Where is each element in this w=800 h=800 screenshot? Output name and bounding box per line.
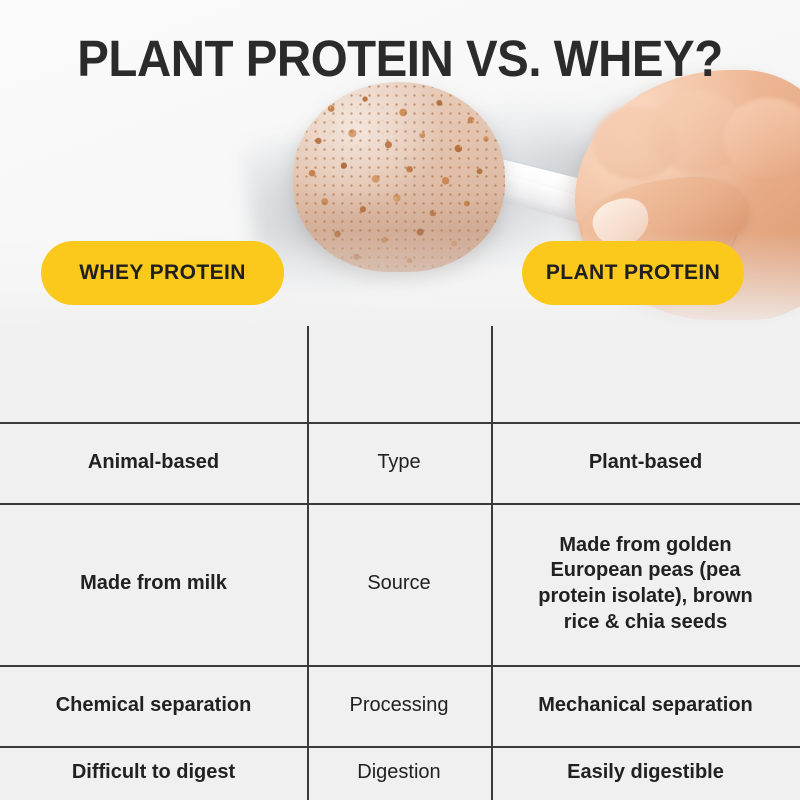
cell-plant: Easily digestible <box>491 746 800 800</box>
page-title: PLANT PROTEIN VS. WHEY? <box>28 31 772 86</box>
badge-plant-protein: PLANT PROTEIN <box>522 241 744 305</box>
cell-plant: Made from golden European peas (pea prot… <box>491 503 800 665</box>
cell-plant-line: European peas (pea <box>538 558 752 584</box>
cell-attribute: Source <box>307 503 491 665</box>
cell-attribute: Digestion <box>307 746 491 800</box>
cell-whey-text: Difficult to digest <box>72 760 235 786</box>
cell-whey: Animal-based <box>0 422 307 503</box>
protein-scoop <box>293 82 505 272</box>
cell-plant-line: rice & chia seeds <box>538 610 752 636</box>
cell-attribute-text: Source <box>367 571 430 597</box>
scoop-bowl-shading <box>293 188 505 272</box>
cell-attribute-text: Type <box>377 450 420 476</box>
cell-attribute-text: Processing <box>350 693 449 719</box>
cell-plant: Mechanical separation <box>491 665 800 746</box>
table-row: Animal-based Type Plant-based <box>0 422 800 503</box>
cell-plant: Plant-based <box>491 422 800 503</box>
cell-attribute-text: Digestion <box>357 760 440 786</box>
cell-whey-text: Made from milk <box>80 571 227 597</box>
table-row: Chemical separation Processing Mechanica… <box>0 665 800 746</box>
cell-plant-line: Made from golden <box>538 533 752 559</box>
cell-whey-text: Animal-based <box>88 450 219 476</box>
cell-plant-text: Plant-based <box>589 450 702 476</box>
cell-whey: Difficult to digest <box>0 746 307 800</box>
comparison-table: Animal-based Type Plant-based Made from … <box>0 326 800 800</box>
cell-attribute: Type <box>307 422 491 503</box>
table-row: Difficult to digest Digestion Easily dig… <box>0 746 800 800</box>
badge-plant-protein-label: PLANT PROTEIN <box>546 261 720 285</box>
cell-whey: Chemical separation <box>0 665 307 746</box>
cell-plant-text: Easily digestible <box>567 760 724 786</box>
knuckle <box>723 98 800 178</box>
badge-whey-protein-label: WHEY PROTEIN <box>79 261 246 285</box>
cell-attribute: Processing <box>307 665 491 746</box>
cell-plant-text: Made from golden European peas (pea prot… <box>538 533 752 635</box>
infographic-root: PLANT PROTEIN VS. WHEY? WHEY PROTEIN PLA… <box>0 0 800 800</box>
cell-plant-text: Mechanical separation <box>538 693 753 719</box>
cell-whey-text: Chemical separation <box>56 693 252 719</box>
cell-whey: Made from milk <box>0 503 307 665</box>
cell-plant-line: protein isolate), brown <box>538 584 752 610</box>
badge-whey-protein: WHEY PROTEIN <box>41 241 284 305</box>
table-row: Made from milk Source Made from golden E… <box>0 503 800 665</box>
